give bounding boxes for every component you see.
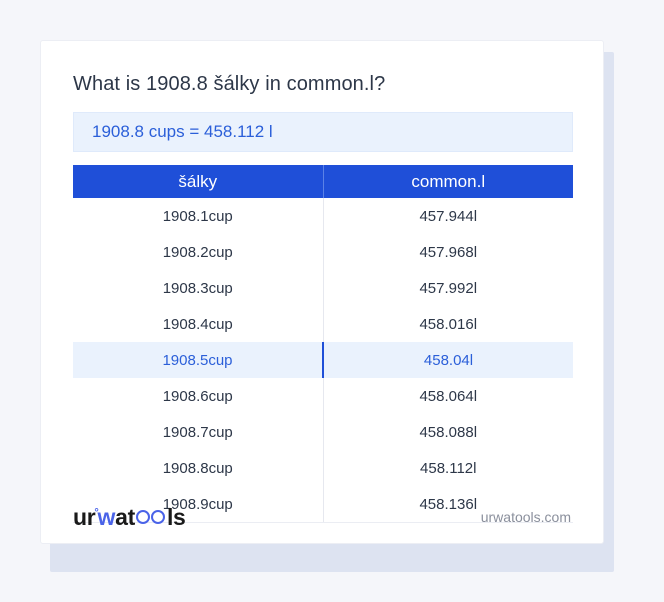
cell-to: 457.992l [323,270,573,306]
logo-dot-icon: ° [94,508,98,519]
conversion-table: šálky common.l 1908.1cup 457.944l 1908.2… [73,165,573,523]
logo-text-part2: w [98,506,116,529]
cell-from: 1908.8cup [73,450,323,486]
cell-to: 457.944l [323,198,573,234]
cell-from: 1908.2cup [73,234,323,270]
column-header-to[interactable]: common.l [323,165,573,198]
conversion-card: What is 1908.8 šálky in common.l? 1908.8… [40,40,604,544]
table-row[interactable]: 1908.4cup 458.016l [73,306,573,342]
table-row[interactable]: 1908.1cup 457.944l [73,198,573,234]
table-row[interactable]: 1908.2cup 457.968l [73,234,573,270]
cell-to: 458.088l [323,414,573,450]
column-header-from[interactable]: šálky [73,165,323,198]
cell-to: 457.968l [323,234,573,270]
page-root: What is 1908.8 šálky in common.l? 1908.8… [0,0,664,602]
cell-to: 458.112l [323,450,573,486]
cell-to: 458.016l [323,306,573,342]
cell-from: 1908.5cup [73,342,323,378]
logo-text-part3: at [115,506,135,529]
cell-from: 1908.3cup [73,270,323,306]
brand-logo[interactable]: ur°watls [73,506,186,529]
table-row[interactable]: 1908.7cup 458.088l [73,414,573,450]
cell-to: 458.064l [323,378,573,414]
footer-site-url: urwatools.com [481,509,571,525]
cell-from: 1908.4cup [73,306,323,342]
result-banner: 1908.8 cups = 458.112 l [73,112,573,152]
logo-text-part4: ls [167,506,186,529]
card-footer: ur°watls urwatools.com [73,497,571,537]
logo-glasses-rings-icon [136,510,166,525]
table-row[interactable]: 1908.6cup 458.064l [73,378,573,414]
cell-from: 1908.1cup [73,198,323,234]
result-banner-text: 1908.8 cups = 458.112 l [92,122,273,142]
cell-from: 1908.7cup [73,414,323,450]
table-row[interactable]: 1908.3cup 457.992l [73,270,573,306]
logo-text-part1: ur [73,506,95,529]
table-row-highlighted[interactable]: 1908.5cup 458.04l [73,342,573,378]
table-body: 1908.1cup 457.944l 1908.2cup 457.968l 19… [73,198,573,523]
page-title: What is 1908.8 šálky in common.l? [73,73,385,96]
cell-to: 458.04l [323,342,573,378]
cell-from: 1908.6cup [73,378,323,414]
table-header-row: šálky common.l [73,165,573,198]
table-row[interactable]: 1908.8cup 458.112l [73,450,573,486]
